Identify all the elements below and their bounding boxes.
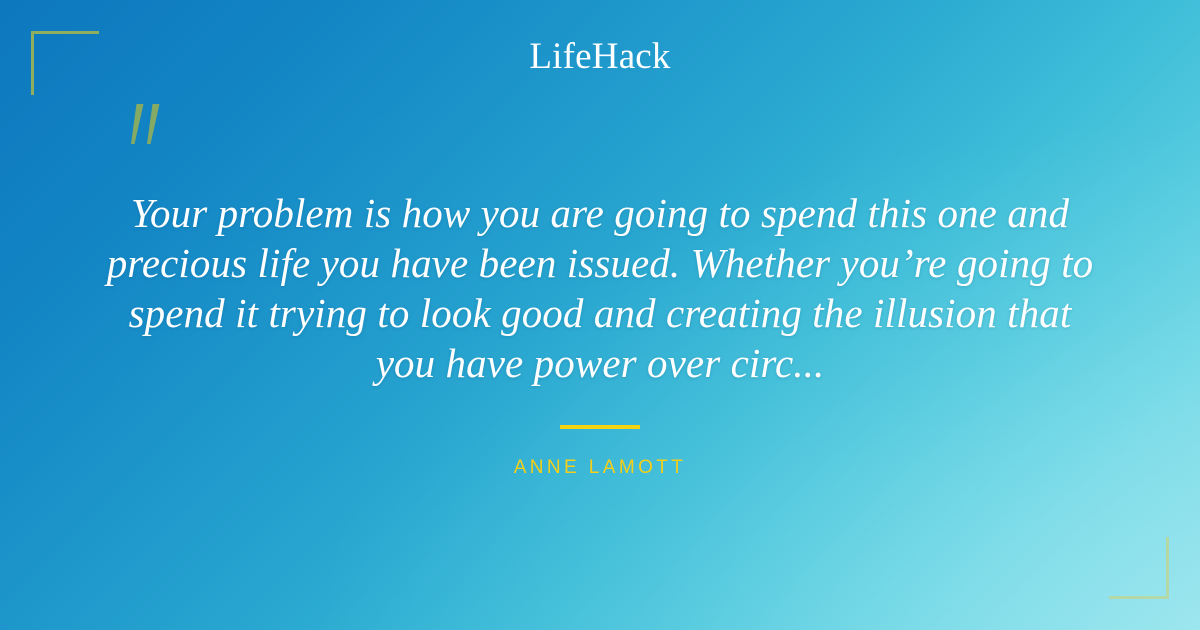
quote-author: ANNE LAMOTT bbox=[514, 457, 687, 479]
attribution-divider bbox=[560, 425, 640, 429]
quote-text: Your problem is how you are going to spe… bbox=[100, 188, 1100, 388]
corner-bracket-bottom-right-icon bbox=[1109, 537, 1169, 599]
quote-container: Your problem is how you are going to spe… bbox=[100, 188, 1100, 388]
brand-logo: LifeHack bbox=[529, 38, 670, 75]
attribution-block: ANNE LAMOTT bbox=[0, 425, 1200, 479]
quote-card: LifeHack Your problem is how you are goi… bbox=[0, 0, 1200, 630]
double-quote-icon bbox=[124, 104, 168, 150]
brand-header: LifeHack bbox=[0, 38, 1200, 75]
